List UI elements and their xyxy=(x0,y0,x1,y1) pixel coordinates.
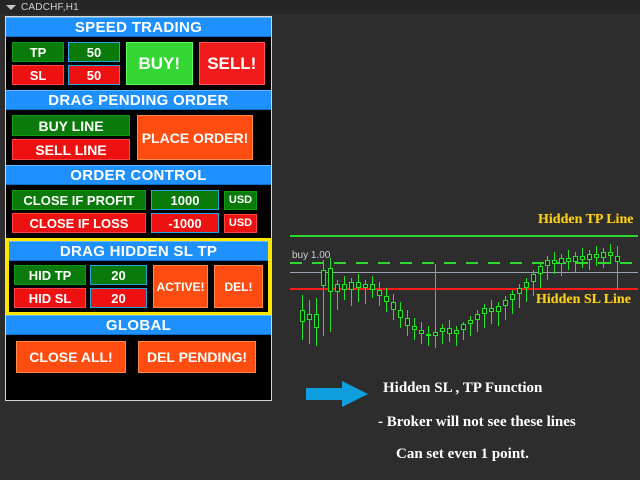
trading-panel: SPEED TRADING TP 50 SL 50 BUY! SELL! DRA… xyxy=(5,16,272,401)
candle-wick xyxy=(617,246,618,290)
candle-body xyxy=(601,252,606,258)
chevron-down-icon[interactable] xyxy=(6,5,16,10)
hid-sl-input[interactable]: 20 xyxy=(90,288,147,308)
candle-wick xyxy=(575,252,576,272)
candle-body xyxy=(321,270,326,286)
candle-body xyxy=(363,284,368,288)
candle-body xyxy=(461,324,466,330)
candle-body xyxy=(349,282,354,290)
candle-body xyxy=(496,306,501,312)
candle-body xyxy=(356,282,361,288)
hidden-tp-line-label: Hidden TP Line xyxy=(538,212,633,228)
candle-body xyxy=(426,334,431,336)
close-if-profit-input[interactable]: 1000 xyxy=(151,190,219,210)
candle-body xyxy=(580,256,585,260)
candle-body xyxy=(587,254,592,260)
delete-hidden-button[interactable]: DEL! xyxy=(214,265,263,308)
hidden-tp-line[interactable] xyxy=(290,235,638,237)
candle-wick xyxy=(456,326,457,346)
pending-line-group: BUY LINE SELL LINE xyxy=(12,115,130,160)
close-if-loss-row: CLOSE IF LOSS -1000 USD xyxy=(12,213,265,233)
candle-body xyxy=(314,314,319,328)
drag-hidden-sl-tp-group: DRAG HIDDEN SL TP HID TP 20 HID SL 20 AC… xyxy=(6,238,271,315)
close-if-profit-row: CLOSE IF PROFIT 1000 USD xyxy=(12,190,265,210)
candle-body xyxy=(419,330,424,334)
section-body-order-control: CLOSE IF PROFIT 1000 USD CLOSE IF LOSS -… xyxy=(6,185,271,238)
candle-body xyxy=(475,314,480,320)
close-if-profit-currency: USD xyxy=(224,191,257,210)
close-if-loss-currency: USD xyxy=(224,214,257,233)
hid-tp-row: HID TP 20 xyxy=(14,265,147,285)
section-body-global: CLOSE ALL! DEL PENDING! xyxy=(6,335,271,381)
annotation-line-3: Can set even 1 point. xyxy=(396,446,529,463)
candle-body xyxy=(447,328,452,334)
candle-body xyxy=(517,288,522,294)
candle-body xyxy=(531,274,536,282)
candle-wick xyxy=(470,316,471,336)
candle-body xyxy=(307,314,312,320)
place-order-button[interactable]: PLACE ORDER! xyxy=(137,115,253,160)
sell-button[interactable]: SELL! xyxy=(199,42,266,85)
close-all-button[interactable]: CLOSE ALL! xyxy=(16,341,126,373)
annotation-line-2: - Broker will not see these lines xyxy=(378,414,576,431)
candle-body xyxy=(412,326,417,330)
candle-body xyxy=(454,330,459,334)
tp-row: TP 50 xyxy=(12,42,120,62)
section-body-drag-hidden-sl-tp: HID TP 20 HID SL 20 ACTIVE! DEL! xyxy=(9,261,268,312)
chart-titlebar: CADCHF,H1 xyxy=(0,0,640,14)
hid-sl-row: HID SL 20 xyxy=(14,288,147,308)
section-header-drag-hidden-sl-tp: DRAG HIDDEN SL TP xyxy=(9,241,268,261)
sl-label[interactable]: SL xyxy=(12,65,64,85)
candle-body xyxy=(615,256,620,262)
candle-body xyxy=(328,268,333,292)
candle-wick xyxy=(442,324,443,344)
tp-label[interactable]: TP xyxy=(12,42,64,62)
buy-button[interactable]: BUY! xyxy=(126,42,193,85)
candle-wick xyxy=(309,300,310,344)
candle-wick xyxy=(358,274,359,302)
candle-body xyxy=(391,302,396,310)
candle-body xyxy=(384,296,389,302)
tp-sl-input-group: TP 50 SL 50 xyxy=(12,42,120,85)
sl-row: SL 50 xyxy=(12,65,120,85)
candle-wick xyxy=(491,300,492,324)
candle-body xyxy=(510,294,515,300)
candle-wick xyxy=(589,250,590,270)
section-body-drag-pending-order: BUY LINE SELL LINE PLACE ORDER! xyxy=(6,110,271,165)
candle-body xyxy=(538,266,543,274)
candle-body xyxy=(342,284,347,290)
candle-body xyxy=(335,284,340,292)
active-button[interactable]: ACTIVE! xyxy=(153,265,208,308)
candlestick-series xyxy=(300,240,640,360)
close-if-loss-input[interactable]: -1000 xyxy=(151,213,219,233)
tp-input[interactable]: 50 xyxy=(68,42,120,62)
del-pending-button[interactable]: DEL PENDING! xyxy=(138,341,256,373)
candle-body xyxy=(524,282,529,288)
candle-body xyxy=(468,320,473,324)
candle-body xyxy=(552,260,557,264)
candle-body xyxy=(594,254,599,258)
candle-body xyxy=(440,328,445,332)
candle-body xyxy=(559,258,564,264)
candle-wick xyxy=(428,326,429,346)
close-if-profit-label[interactable]: CLOSE IF PROFIT xyxy=(12,190,146,210)
buy-line-button[interactable]: BUY LINE xyxy=(12,115,130,136)
section-header-order-control: ORDER CONTROL xyxy=(6,165,271,185)
hid-tp-input[interactable]: 20 xyxy=(90,265,147,285)
candle-body xyxy=(433,332,438,336)
hid-tp-label[interactable]: HID TP xyxy=(14,265,86,285)
hidden-tp-sl-input-group: HID TP 20 HID SL 20 xyxy=(14,265,147,308)
sell-line-button[interactable]: SELL LINE xyxy=(12,139,130,160)
symbol-timeframe-label: CADCHF,H1 xyxy=(21,2,79,13)
candle-body xyxy=(545,260,550,266)
candle-body xyxy=(608,252,613,256)
candle-body xyxy=(405,318,410,326)
candle-body xyxy=(370,284,375,290)
annotation-line-1: Hidden SL , TP Function xyxy=(383,380,542,397)
right-arrow-icon xyxy=(306,381,368,407)
candle-body xyxy=(489,308,494,312)
candle-body xyxy=(377,290,382,296)
candle-body xyxy=(398,310,403,318)
candle-body xyxy=(503,300,508,306)
close-if-loss-label[interactable]: CLOSE IF LOSS xyxy=(12,213,146,233)
section-body-speed-trading: TP 50 SL 50 BUY! SELL! xyxy=(6,37,271,90)
sl-input[interactable]: 50 xyxy=(68,65,120,85)
candle-body xyxy=(482,308,487,314)
candle-wick xyxy=(603,248,604,268)
section-header-global: GLOBAL xyxy=(6,315,271,335)
hid-sl-label[interactable]: HID SL xyxy=(14,288,86,308)
candle-body xyxy=(573,256,578,262)
section-header-speed-trading: SPEED TRADING xyxy=(6,17,271,37)
section-header-drag-pending-order: DRAG PENDING ORDER xyxy=(6,90,271,110)
candle-body xyxy=(566,258,571,262)
candle-body xyxy=(300,310,305,322)
